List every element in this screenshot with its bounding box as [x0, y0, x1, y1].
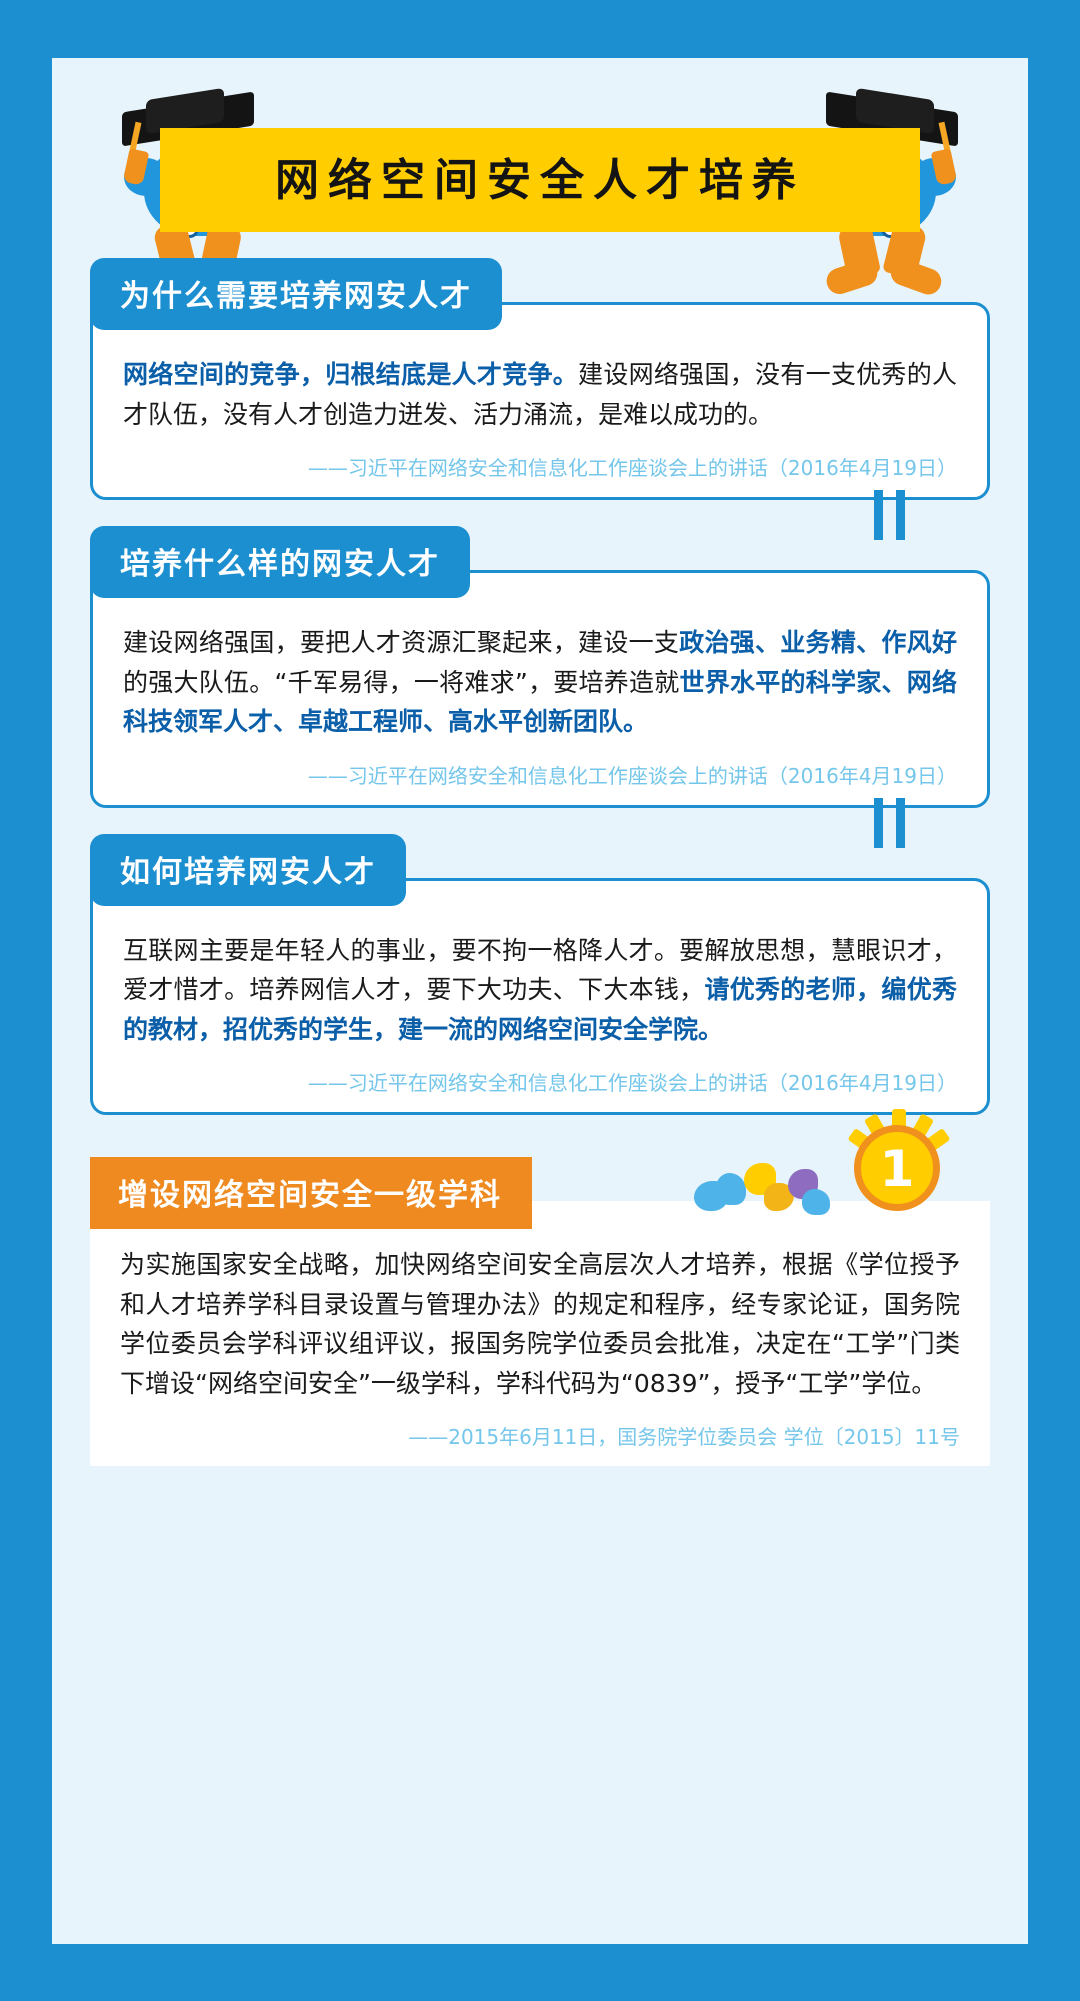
section-body-2: 建设网络强国，要把人才资源汇聚起来，建设一支政治强、业务精、作风好的强大队伍。“…: [90, 570, 990, 808]
poster-background: 网络空间安全人才培养 为什么需要培养网安人才 网络空间的竞争，归根结底是人才竞争…: [0, 0, 1080, 2001]
sections-container: 为什么需要培养网安人才 网络空间的竞争，归根结底是人才竞争。建设网络强国，没有一…: [52, 258, 1028, 1466]
butterfly-icon: [802, 1189, 830, 1215]
section-body-3: 互联网主要是年轻人的事业，要不拘一格降人才。要解放思想，慧眼识才，爱才惜才。培养…: [90, 878, 990, 1116]
section-source-3: ——习近平在网络安全和信息化工作座谈会上的讲话（2016年4月19日）: [123, 1067, 957, 1096]
connector-bars-2: [868, 798, 914, 848]
title-banner: 网络空间安全人才培养: [160, 128, 920, 232]
highlighted-text: 政治强、业务精、作风好: [679, 628, 957, 657]
body-text: 为实施国家安全战略，加快网络空间安全高层次人才培养，根据《学位授予和人才培养学科…: [120, 1250, 960, 1398]
section-source-2: ——习近平在网络安全和信息化工作座谈会上的讲话（2016年4月19日）: [123, 760, 957, 789]
section-heading-3: 如何培养网安人才: [90, 834, 406, 906]
poster-inner-panel: 网络空间安全人才培养 为什么需要培养网安人才 网络空间的竞争，归根结底是人才竞争…: [52, 58, 1028, 1944]
body-text: 建设网络强国，要把人才资源汇聚起来，建设一支: [123, 628, 679, 657]
section-source-1: ——习近平在网络安全和信息化工作座谈会上的讲话（2016年4月19日）: [123, 452, 957, 481]
butterfly-decorations: [690, 1159, 840, 1221]
section-card-2: 培养什么样的网安人才 建设网络强国，要把人才资源汇聚起来，建设一支政治强、业务精…: [90, 526, 990, 808]
section-body-1: 网络空间的竞争，归根结底是人才竞争。建设网络强国，没有一支优秀的人才队伍，没有人…: [90, 302, 990, 500]
medal-number: 1: [861, 1140, 933, 1198]
section-paragraph-2: 建设网络强国，要把人才资源汇聚起来，建设一支政治强、业务精、作风好的强大队伍。“…: [123, 623, 957, 742]
page-title: 网络空间安全人才培养: [160, 144, 920, 208]
butterfly-icon: [716, 1173, 746, 1205]
poster-header: 网络空间安全人才培养: [52, 58, 1028, 258]
section-paragraph-1: 网络空间的竞争，归根结底是人才竞争。建设网络强国，没有一支优秀的人才队伍，没有人…: [123, 355, 957, 434]
section-card-3: 如何培养网安人才 互联网主要是年轻人的事业，要不拘一格降人才。要解放思想，慧眼识…: [90, 834, 990, 1116]
section-card-4: 1 增设网络空间安全一级学科 为实施国家安全: [90, 1157, 990, 1466]
section-heading-1: 为什么需要培养网安人才: [90, 258, 502, 330]
body-text: 的强大队伍。“千军易得，一将难求”，要培养造就: [123, 668, 680, 697]
section-paragraph-4: 为实施国家安全战略，加快网络空间安全高层次人才培养，根据《学位授予和人才培养学科…: [120, 1245, 960, 1403]
highlighted-text: 网络空间的竞争，归根结底是人才竞争。: [123, 360, 578, 389]
connector-bars-1: [868, 490, 914, 540]
section-source-4: ——2015年6月11日，国务院学位委员会 学位〔2015〕11号: [120, 1421, 960, 1450]
section-body-4: 为实施国家安全战略，加快网络空间安全高层次人才培养，根据《学位授予和人才培养学科…: [90, 1201, 990, 1466]
section-paragraph-3: 互联网主要是年轻人的事业，要不拘一格降人才。要解放思想，慧眼识才，爱才惜才。培养…: [123, 931, 957, 1050]
section-card-1: 为什么需要培养网安人才 网络空间的竞争，归根结底是人才竞争。建设网络强国，没有一…: [90, 258, 990, 500]
section-heading-2: 培养什么样的网安人才: [90, 526, 470, 598]
medal-number-one-icon: 1: [834, 1105, 964, 1235]
section-heading-4: 增设网络空间安全一级学科: [90, 1157, 532, 1229]
